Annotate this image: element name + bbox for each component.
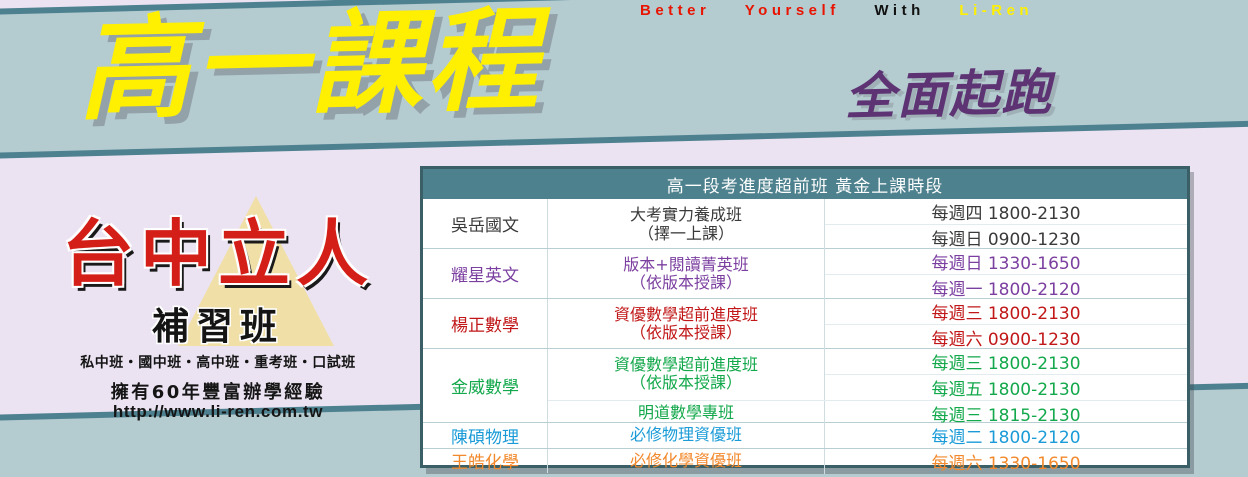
course-time-group: 資優數學超前進度班（依版本授課）每週三 1800-2130每週六 0900-12… bbox=[548, 299, 1187, 350]
poster-canvas: Better Yourself With Li-Ren 高一課程 全面起跑 台中… bbox=[0, 0, 1248, 477]
class-time-group: 每週三 1800-2130每週六 0900-1230 bbox=[825, 299, 1187, 350]
logo: 台中立人 補習班 私中班・國中班・高中班・重考班・口試班 擁有60年豐富辦學經驗… bbox=[28, 196, 408, 416]
row-detail-group: 資優數學超前進度班（依版本授課）每週三 1800-2130每週五 1800-21… bbox=[548, 349, 1187, 422]
course-name-cell: 必修物理資優班 bbox=[548, 423, 825, 448]
course-time-group: 版本+閱讀菁英班（依版本授課）每週日 1330-1650每週一 1800-212… bbox=[548, 249, 1187, 300]
class-time-group: 每週二 1800-2120 bbox=[825, 423, 1187, 448]
logo-name: 台中立人 bbox=[28, 218, 408, 290]
course-name-line2: （依版本授課） bbox=[630, 374, 742, 392]
teacher-name-cell: 耀星英文 bbox=[423, 249, 548, 298]
table-row: 吳岳國文大考實力養成班（擇一上課）每週四 1800-2130每週日 0900-1… bbox=[423, 199, 1187, 248]
course-time-group: 必修化學資優班每週六 1330-1650 bbox=[548, 449, 1187, 474]
course-time-group: 資優數學超前進度班（依版本授課）每週三 1800-2130每週五 1800-21… bbox=[548, 349, 1187, 400]
row-detail-group: 必修化學資優班每週六 1330-1650 bbox=[548, 449, 1187, 473]
course-name-line1: 大考實力養成班 bbox=[630, 206, 742, 224]
class-time-cell: 每週日 0900-1230 bbox=[825, 224, 1187, 250]
teacher-name-cell: 楊正數學 bbox=[423, 299, 548, 348]
schedule-table: 高一段考進度超前班 黃金上課時段 吳岳國文大考實力養成班（擇一上課）每週四 18… bbox=[420, 166, 1190, 468]
page-title: 高一課程 bbox=[77, 1, 544, 129]
course-time-group: 必修物理資優班每週二 1800-2120 bbox=[548, 423, 1187, 448]
class-time-cell: 每週一 1800-2120 bbox=[825, 274, 1187, 300]
class-time-cell: 每週日 1330-1650 bbox=[825, 249, 1187, 274]
tagline: Better Yourself With Li-Ren bbox=[640, 2, 1033, 19]
course-name-cell: 資優數學超前進度班（依版本授課） bbox=[548, 299, 825, 350]
table-row: 王皓化學必修化學資優班每週六 1330-1650 bbox=[423, 448, 1187, 473]
class-time-group: 每週四 1800-2130每週日 0900-1230 bbox=[825, 199, 1187, 250]
table-row: 陳碩物理必修物理資優班每週二 1800-2120 bbox=[423, 422, 1187, 447]
course-name-line1: 必修化學資優班 bbox=[630, 452, 742, 470]
class-time-cell: 每週四 1800-2130 bbox=[825, 199, 1187, 224]
course-name-cell: 版本+閱讀菁英班（依版本授課） bbox=[548, 249, 825, 300]
tagline-word-with: With bbox=[874, 2, 924, 19]
teacher-name-cell: 王皓化學 bbox=[423, 449, 548, 473]
teacher-name-cell: 金威數學 bbox=[423, 349, 548, 422]
class-time-cell: 每週三 1800-2130 bbox=[825, 349, 1187, 374]
class-time-group: 每週三 1800-2130每週五 1800-2130 bbox=[825, 349, 1187, 400]
course-name-line2: （依版本授課） bbox=[630, 324, 742, 342]
course-time-group-extra: 明道數學專班每週三 1815-2130 bbox=[548, 400, 1187, 426]
schedule-header: 高一段考進度超前班 黃金上課時段 bbox=[423, 169, 1187, 199]
table-row: 楊正數學資優數學超前進度班（依版本授課）每週三 1800-2130每週六 090… bbox=[423, 298, 1187, 348]
course-name-line2: （擇一上課） bbox=[638, 225, 734, 243]
course-name-line1: 資優數學超前進度班 bbox=[614, 356, 758, 374]
course-name-cell: 資優數學超前進度班（依版本授課） bbox=[548, 349, 825, 400]
tagline-word-better: Better bbox=[640, 2, 710, 19]
course-name-cell: 明道數學專班 bbox=[548, 401, 825, 426]
logo-experience: 擁有60年豐富辦學經驗 bbox=[28, 378, 408, 404]
class-time-group: 每週日 1330-1650每週一 1800-2120 bbox=[825, 249, 1187, 300]
schedule-body: 吳岳國文大考實力養成班（擇一上課）每週四 1800-2130每週日 0900-1… bbox=[423, 199, 1187, 473]
tagline-word-liren: Li-Ren bbox=[959, 2, 1033, 19]
class-time-cell: 每週六 1330-1650 bbox=[825, 449, 1187, 474]
row-detail-group: 必修物理資優班每週二 1800-2120 bbox=[548, 423, 1187, 447]
course-time-group: 大考實力養成班（擇一上課）每週四 1800-2130每週日 0900-1230 bbox=[548, 199, 1187, 250]
row-detail-group: 大考實力養成班（擇一上課）每週四 1800-2130每週日 0900-1230 bbox=[548, 199, 1187, 248]
class-time-cell: 每週六 0900-1230 bbox=[825, 324, 1187, 350]
course-name-line1: 版本+閱讀菁英班 bbox=[623, 256, 748, 274]
class-time-group: 每週六 1330-1650 bbox=[825, 449, 1187, 474]
row-detail-group: 資優數學超前進度班（依版本授課）每週三 1800-2130每週六 0900-12… bbox=[548, 299, 1187, 348]
teacher-name-cell: 吳岳國文 bbox=[423, 199, 548, 248]
class-time-cell: 每週五 1800-2130 bbox=[825, 374, 1187, 400]
course-name-cell: 必修化學資優班 bbox=[548, 449, 825, 474]
logo-type: 補習班 bbox=[28, 308, 408, 345]
course-name-line1: 必修物理資優班 bbox=[630, 426, 742, 444]
class-time-cell: 每週二 1800-2120 bbox=[825, 423, 1187, 448]
course-name-cell: 大考實力養成班（擇一上課） bbox=[548, 199, 825, 250]
course-name-line2: （依版本授課） bbox=[630, 274, 742, 292]
tagline-word-yourself: Yourself bbox=[745, 2, 840, 19]
course-name-line1: 資優數學超前進度班 bbox=[614, 306, 758, 324]
logo-class-list: 私中班・國中班・高中班・重考班・口試班 bbox=[28, 352, 408, 372]
table-row: 耀星英文版本+閱讀菁英班（依版本授課）每週日 1330-1650每週一 1800… bbox=[423, 248, 1187, 298]
table-row: 金威數學資優數學超前進度班（依版本授課）每週三 1800-2130每週五 180… bbox=[423, 348, 1187, 422]
class-time-cell: 每週三 1815-2130 bbox=[825, 401, 1187, 426]
page-subtitle: 全面起跑 bbox=[844, 67, 1053, 122]
row-detail-group: 版本+閱讀菁英班（依版本授課）每週日 1330-1650每週一 1800-212… bbox=[548, 249, 1187, 298]
logo-website-url: http://www.li-ren.com.tw bbox=[28, 402, 408, 422]
class-time-cell: 每週三 1800-2130 bbox=[825, 299, 1187, 324]
teacher-name-cell: 陳碩物理 bbox=[423, 423, 548, 447]
